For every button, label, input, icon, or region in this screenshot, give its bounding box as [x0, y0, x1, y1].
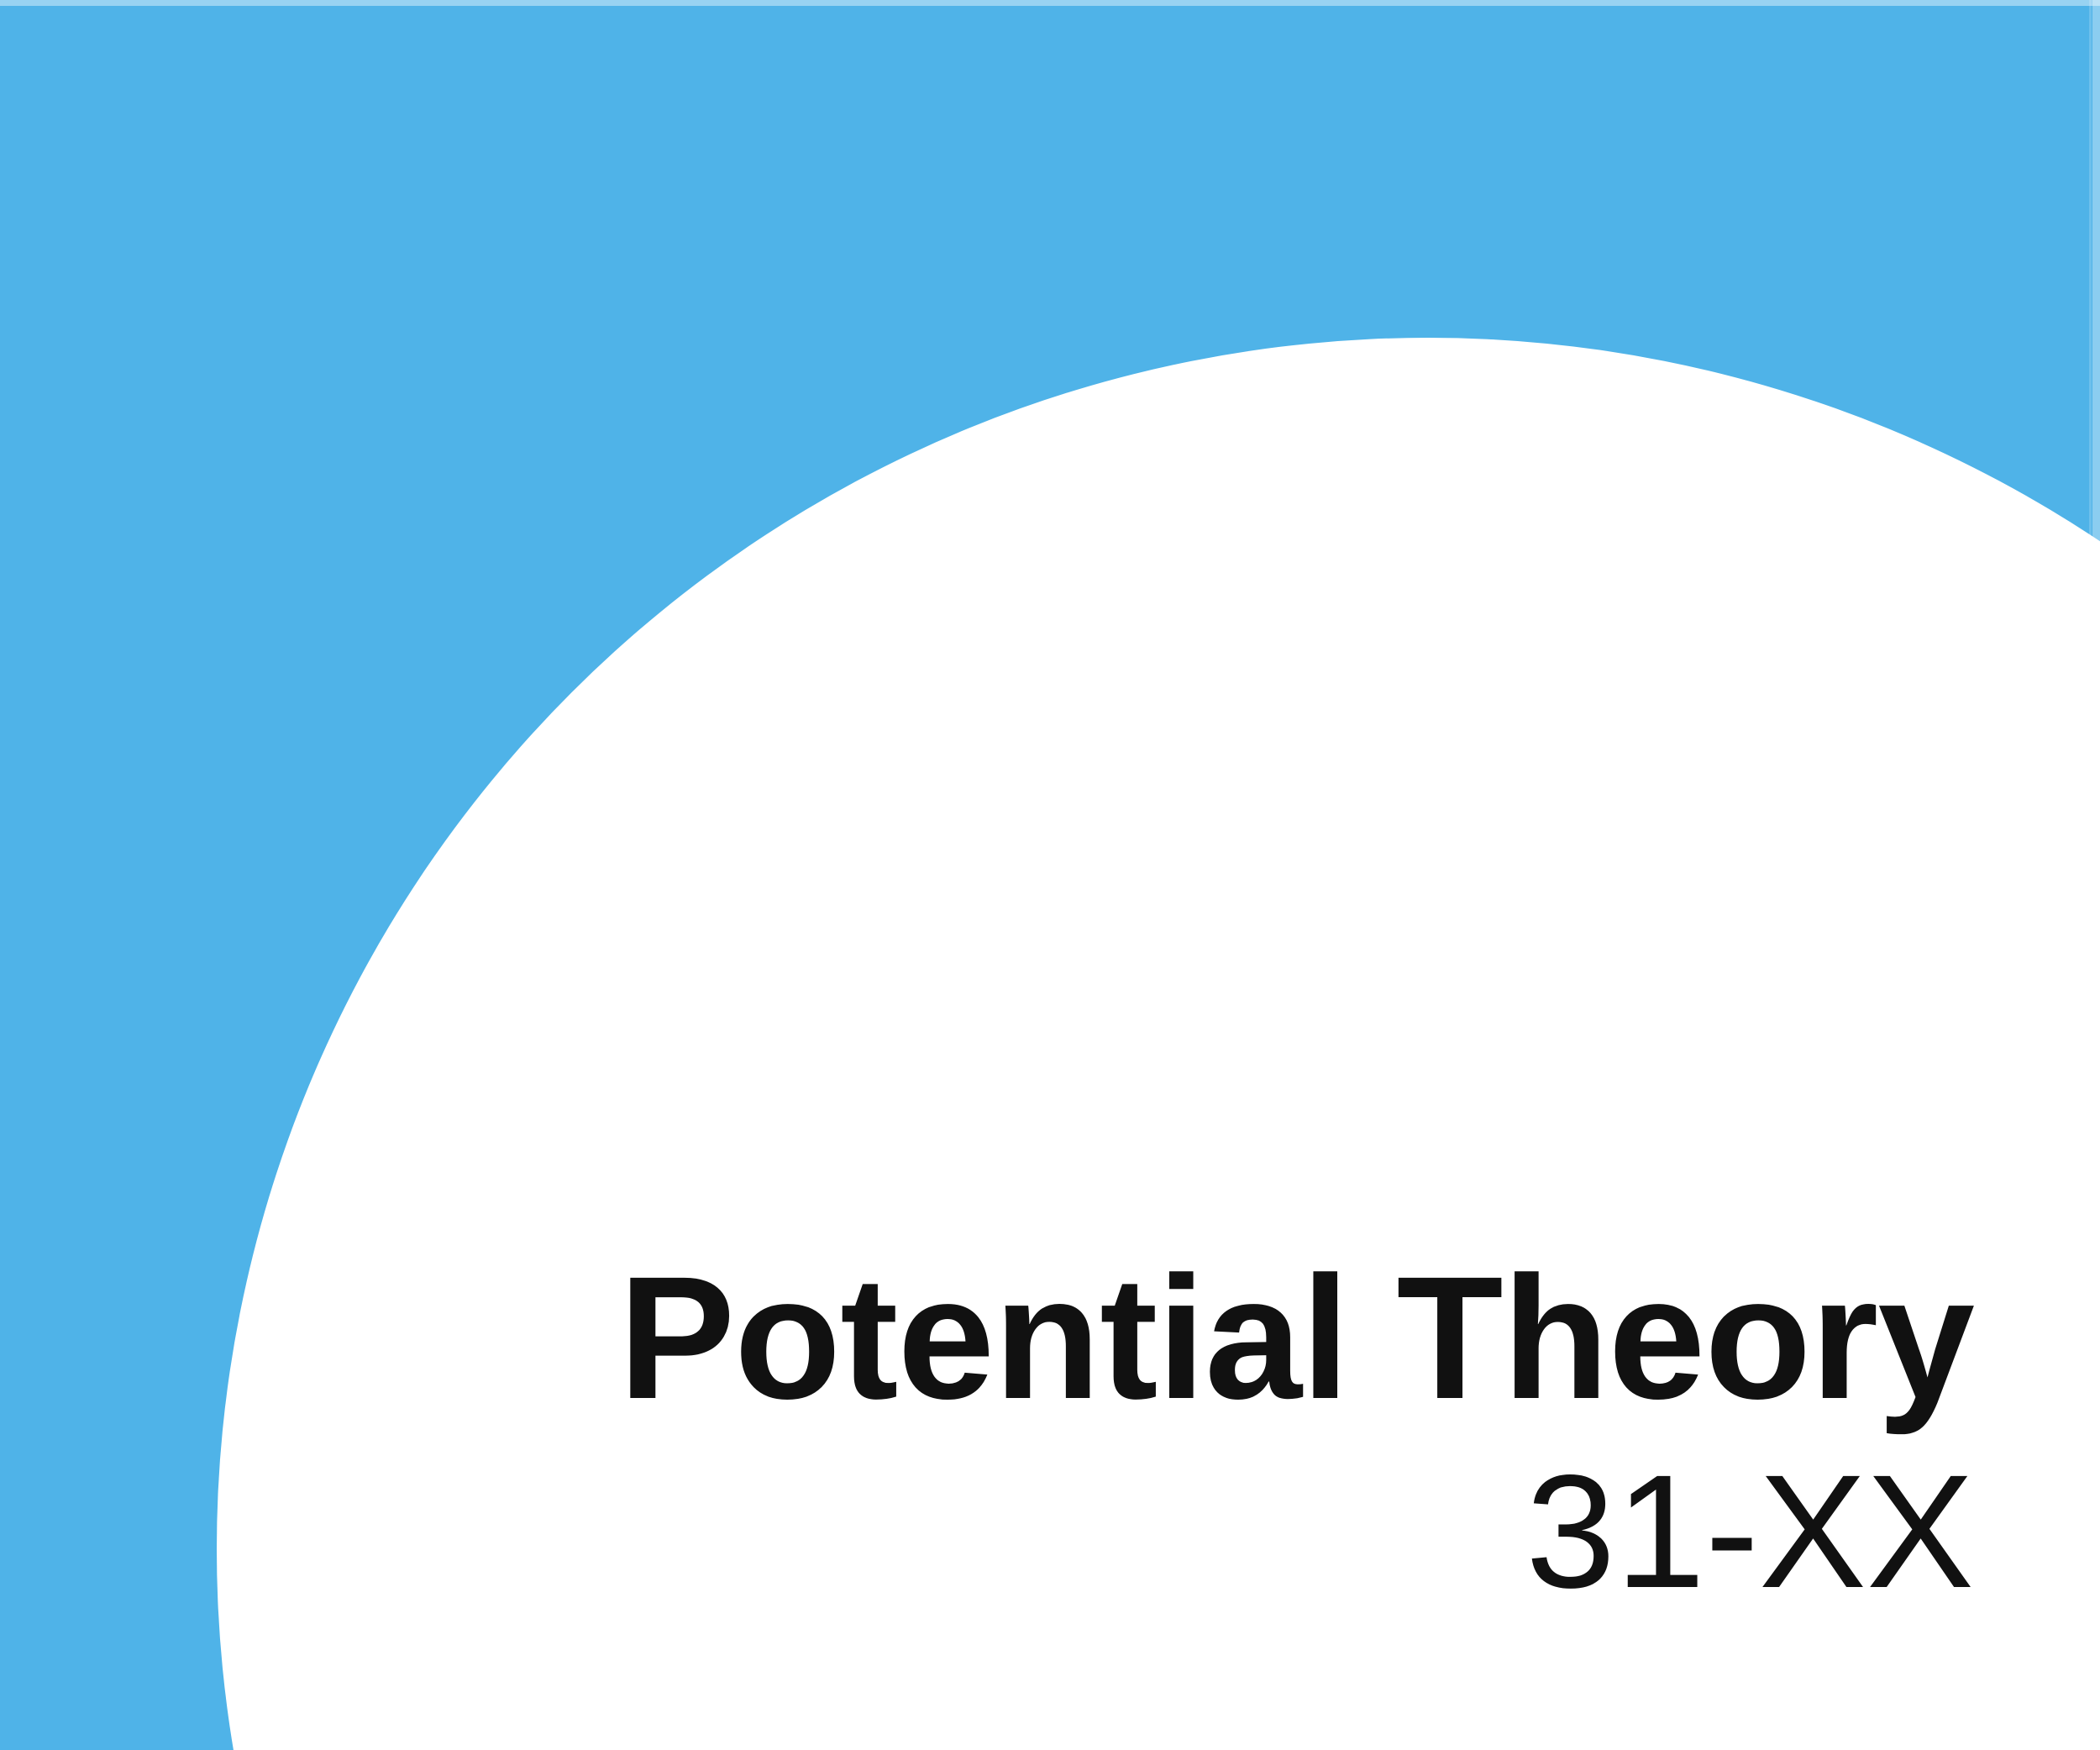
- cover-title-block: Potential Theory 31-XX: [618, 1237, 1974, 1621]
- top-edge-highlight: [0, 0, 2100, 6]
- classification-code: 31-XX: [618, 1441, 1974, 1621]
- subject-title: Potential Theory: [618, 1237, 1974, 1441]
- book-cover: Potential Theory 31-XX: [0, 0, 2100, 1750]
